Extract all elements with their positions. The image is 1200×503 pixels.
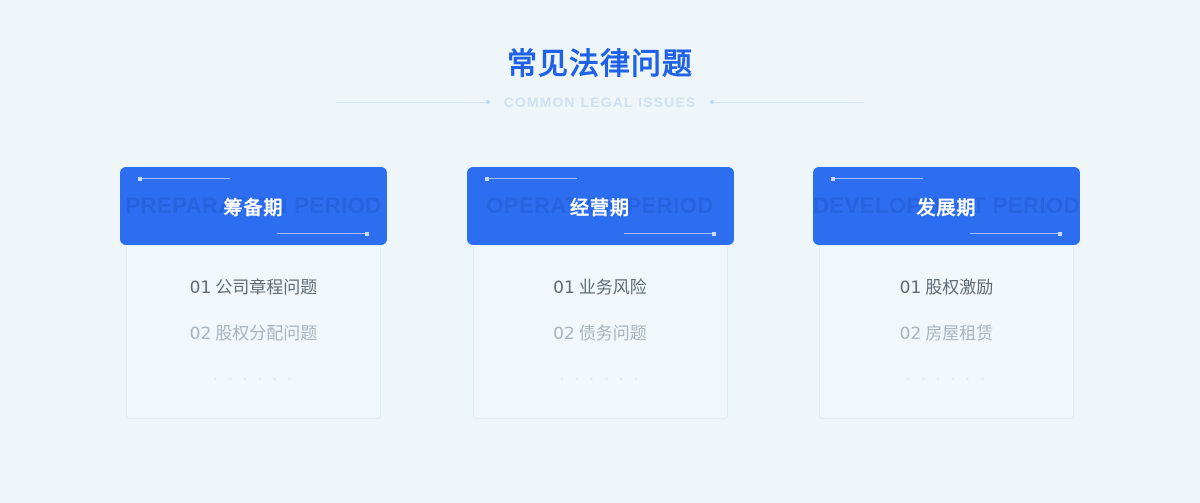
header-line-top-left-icon — [489, 178, 577, 179]
issue-label: · · · · · · — [559, 370, 640, 390]
card-header-title: 筹备期 — [223, 193, 283, 220]
card-header-title: 经营期 — [570, 193, 630, 220]
page-title: 常见法律问题 — [0, 44, 1200, 86]
issue-label: 债务问题 — [579, 324, 647, 344]
list-item-ellipsis: · · · · · · — [820, 369, 1073, 391]
period-card-list: PREPARATION PERIOD 筹备期 01公司章程问题 02股权分配问题… — [120, 167, 1080, 419]
card-header-preparation[interactable]: PREPARATION PERIOD 筹备期 — [120, 167, 387, 245]
header-line-top-left-icon — [835, 178, 923, 179]
list-item[interactable]: 02债务问题 — [474, 323, 727, 345]
list-item-ellipsis: · · · · · · — [474, 369, 727, 391]
header-line-top-left-icon — [142, 178, 230, 179]
issue-number: 02 — [553, 324, 575, 344]
header-line-bottom-right-icon — [624, 233, 712, 234]
card-body-development: 01股权激励 02房屋租赁 · · · · · · — [819, 247, 1074, 419]
issue-label: 股权激励 — [925, 278, 993, 298]
period-card-preparation[interactable]: PREPARATION PERIOD 筹备期 01公司章程问题 02股权分配问题… — [120, 167, 387, 419]
issue-number: 01 — [900, 278, 922, 298]
issue-label: · · · · · · — [906, 370, 987, 390]
card-body-operation: 01业务风险 02债务问题 · · · · · · — [473, 247, 728, 419]
issue-number: 01 — [190, 278, 212, 298]
issue-label: 股权分配问题 — [215, 324, 317, 344]
list-item[interactable]: 02房屋租赁 — [820, 323, 1073, 345]
issue-number: 01 — [553, 278, 575, 298]
list-item[interactable]: 01业务风险 — [474, 277, 727, 299]
card-header-operation[interactable]: OPERATION PERIOD 经营期 — [467, 167, 734, 245]
subtitle-rule-right-icon — [714, 102, 864, 103]
list-item[interactable]: 01股权激励 — [820, 277, 1073, 299]
issue-label: 公司章程问题 — [215, 278, 317, 298]
list-item-ellipsis: · · · · · · — [127, 369, 380, 391]
issue-label: 房屋租赁 — [925, 324, 993, 344]
issue-label: 业务风险 — [579, 278, 647, 298]
legal-issues-section: 常见法律问题 COMMON LEGAL ISSUES PREPARATION P… — [0, 0, 1200, 503]
header-line-bottom-right-icon — [277, 233, 365, 234]
subtitle-rule-left-icon — [336, 102, 486, 103]
issue-label: · · · · · · — [213, 370, 294, 390]
period-card-operation[interactable]: OPERATION PERIOD 经营期 01业务风险 02债务问题 · · ·… — [467, 167, 734, 419]
section-subtitle: COMMON LEGAL ISSUES — [504, 94, 697, 110]
section-subtitle-row: COMMON LEGAL ISSUES — [0, 94, 1200, 110]
card-body-preparation: 01公司章程问题 02股权分配问题 · · · · · · — [126, 247, 381, 419]
section-header: 常见法律问题 COMMON LEGAL ISSUES — [0, 44, 1200, 110]
period-card-development[interactable]: DEVELOPMENT PERIOD 发展期 01股权激励 02房屋租赁 · ·… — [813, 167, 1080, 419]
list-item[interactable]: 01公司章程问题 — [127, 277, 380, 299]
card-header-development[interactable]: DEVELOPMENT PERIOD 发展期 — [813, 167, 1080, 245]
issue-number: 02 — [190, 324, 212, 344]
header-line-bottom-right-icon — [970, 233, 1058, 234]
list-item[interactable]: 02股权分配问题 — [127, 323, 380, 345]
card-header-title: 发展期 — [916, 193, 976, 220]
issue-number: 02 — [900, 324, 922, 344]
